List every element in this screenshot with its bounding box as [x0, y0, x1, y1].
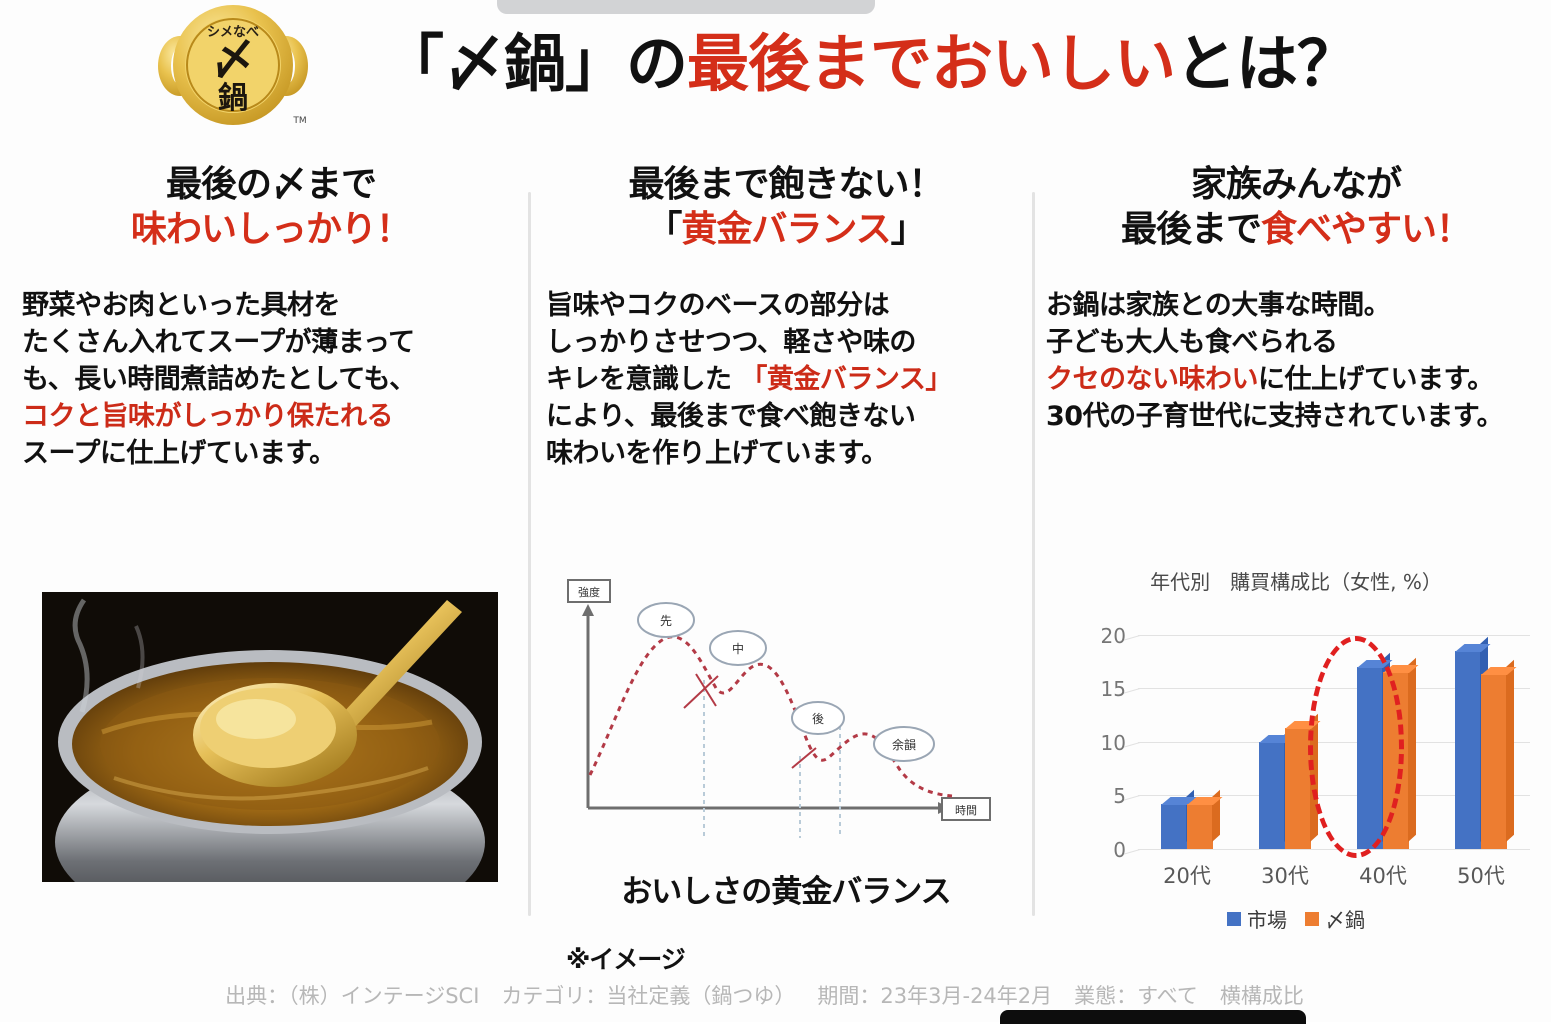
image-disclaimer-note: ※イメージ: [566, 940, 685, 976]
chart-y-tick-label: 0: [1082, 838, 1126, 862]
footer-source: 出典：（株）インテージSCI: [225, 984, 479, 1008]
curve-bubble-2: 中: [732, 641, 744, 656]
column3-heading-highlight: 食べやすい！: [1261, 209, 1471, 250]
trademark-mark: TM: [292, 116, 306, 126]
footer-category: カテゴリ：当社定義（鍋つゆ）: [501, 984, 795, 1008]
chart-title: 年代別 購買構成比（女性, %）: [1046, 566, 1546, 595]
chart-gridline: [1138, 849, 1530, 850]
chart-y-tick-label: 10: [1082, 731, 1126, 755]
chart-bar-group: [1455, 651, 1507, 849]
chart-bar: [1161, 804, 1187, 849]
column3-heading: 家族みんなが 最後まで食べやすい！: [1046, 162, 1546, 252]
column1-heading-line2: 味わいしっかり！: [22, 207, 520, 252]
column3-heading-line1: 家族みんなが: [1046, 162, 1546, 207]
column2-heading-bracket-close: 」: [891, 209, 926, 250]
page-title: 「〆鍋」の最後までおいしいとは？: [382, 18, 1382, 110]
column3-body: お鍋は家族との大事な時間。 子ども大人も食べられる クセのない味わいに仕上げてい…: [1046, 288, 1546, 436]
curve-bubble-3: 後: [812, 712, 824, 726]
legend-swatch-icon: [1227, 912, 1241, 926]
chart-legend-item: 〆鍋: [1305, 904, 1365, 933]
curve-caption: おいしさの黄金バランス: [546, 866, 1026, 911]
footer-metric: 横構成比: [1220, 984, 1304, 1008]
column1-body-line5: スープに仕上げています。: [22, 436, 520, 473]
column3-body-line4: 30代の子育世代に支持されています。: [1046, 399, 1546, 436]
chart-y-tick-label: 15: [1082, 677, 1126, 701]
column2-body-line3-pre: キレを意識した: [546, 364, 740, 395]
logo-mark: 〆: [211, 34, 255, 85]
title-part1: 「〆鍋」の: [382, 27, 687, 100]
chart-bar-group: [1161, 804, 1213, 849]
chart-x-tick-label: 50代: [1457, 860, 1505, 890]
column1-body-line4: コクと旨味がしっかり保たれる: [22, 399, 520, 436]
curve-bubble-1: 先: [660, 614, 672, 628]
chart-y-tick-label: 5: [1082, 784, 1126, 808]
column1-body-line1: 野菜やお肉といった具材を: [22, 288, 520, 325]
column-divider-1: [528, 192, 531, 916]
title-highlight: 最後までおいしい: [687, 27, 1175, 100]
legend-label: 〆鍋: [1325, 904, 1365, 933]
soup-pot-photo: [42, 592, 498, 882]
footer-period: 期間：23年3月-24年2月: [817, 984, 1052, 1008]
column2-heading-bracket-open: 「: [646, 209, 681, 250]
column2-heading: 最後まで飽きない！ 「黄金バランス」: [546, 162, 1026, 252]
chart-legend-item: 市場: [1227, 904, 1287, 933]
column1-body-line3: も、長い時間煮詰めたとしても、: [22, 362, 520, 399]
column3-heading-line2: 最後まで食べやすい！: [1046, 207, 1546, 252]
column3-body-line3: クセのない味わいに仕上げています。: [1046, 362, 1546, 399]
footer-source-line: 出典：（株）インテージSCIカテゴリ：当社定義（鍋つゆ）期間：23年3月-24年…: [0, 980, 1551, 1010]
age-purchase-bar-chart: 年代別 購買構成比（女性, %） 05101520 20代30代40代50代 市…: [1046, 566, 1546, 956]
chart-bar-group: [1357, 667, 1409, 849]
chart-bar: [1357, 667, 1383, 849]
chart-bar: [1259, 742, 1285, 849]
column2-body-line2: しっかりさせつつ、軽さや味の: [546, 325, 1026, 362]
chart-bar: [1455, 651, 1481, 849]
chart-x-tick-label: 40代: [1359, 860, 1407, 890]
column2-body: 旨味やコクのベースの部分は しっかりさせつつ、軽さや味の キレを意識した 「黄金…: [546, 288, 1026, 473]
chart-bar: [1187, 804, 1213, 849]
column-divider-2: [1032, 192, 1035, 916]
curve-x-axis-label: 時間: [955, 804, 977, 817]
chart-bars: [1138, 624, 1530, 849]
legend-label: 市場: [1247, 904, 1287, 933]
column2-body-line3-highlight: 「黄金バランス」: [740, 364, 951, 395]
taste-curve-diagram: 強度 時間 先 中 後 余韻: [556, 572, 1008, 850]
column2-body-line3: キレを意識した 「黄金バランス」: [546, 362, 1026, 399]
logo-bottom-text: 鍋: [218, 81, 248, 116]
column1-heading-line1: 最後の〆まで: [22, 162, 520, 207]
column2-body-line5: 味わいを作り上げています。: [546, 436, 1026, 473]
column1-body: 野菜やお肉といった具材を たくさん入れてスープが薄まって も、長い時間煮詰めたと…: [22, 288, 520, 473]
legend-swatch-icon: [1305, 912, 1319, 926]
column3-heading-pre: 最後まで: [1121, 209, 1261, 250]
chart-x-axis-labels: 20代30代40代50代: [1138, 860, 1530, 890]
column2-heading-line1: 最後まで飽きない！: [546, 162, 1026, 207]
column3-body-line2: 子ども大人も食べられる: [1046, 325, 1546, 362]
column2-body-line4: により、最後まで食べ飽きない: [546, 399, 1026, 436]
column2-heading-line2: 「黄金バランス」: [546, 207, 1026, 252]
footer-channel: 業態：すべて: [1074, 984, 1198, 1008]
curve-y-axis-label: 強度: [578, 585, 600, 599]
chart-bar: [1481, 674, 1507, 849]
top-gray-bar: [497, 0, 875, 14]
shimenabe-logo: シメなべ 〆 鍋 TM: [150, 2, 316, 134]
chart-plot-area: 05101520: [1138, 624, 1530, 849]
title-part2: とは？: [1175, 27, 1358, 100]
chart-bar: [1383, 672, 1409, 849]
column3-body-line1: お鍋は家族との大事な時間。: [1046, 288, 1546, 325]
curve-bubble-4: 余韻: [892, 737, 916, 752]
column1-body-line2: たくさん入れてスープが薄まって: [22, 325, 520, 362]
chart-bar: [1285, 728, 1311, 849]
column-balance: 最後まで飽きない！ 「黄金バランス」 旨味やコクのベースの部分は しっかりさせつ…: [546, 162, 1026, 473]
chart-legend: 市場〆鍋: [1046, 904, 1546, 933]
column3-body-line3-highlight: クセのない味わい: [1046, 364, 1258, 395]
column3-body-line3-post: に仕上げています。: [1258, 364, 1494, 395]
column2-heading-highlight: 黄金バランス: [681, 209, 890, 250]
column1-heading: 最後の〆まで 味わいしっかり！: [22, 162, 520, 252]
column-family: 家族みんなが 最後まで食べやすい！ お鍋は家族との大事な時間。 子ども大人も食べ…: [1046, 162, 1546, 436]
column-flavor: 最後の〆まで 味わいしっかり！ 野菜やお肉といった具材を たくさん入れてスープが…: [22, 162, 520, 473]
chart-x-tick-label: 20代: [1163, 860, 1211, 890]
chart-y-tick-label: 20: [1082, 624, 1126, 648]
chart-bar-group: [1259, 728, 1311, 849]
slide-canvas: シメなべ 〆 鍋 TM 「〆鍋」の最後までおいしいとは？ 最後の〆まで 味わいし…: [0, 0, 1551, 1022]
column2-body-line1: 旨味やコクのベースの部分は: [546, 288, 1026, 325]
chart-x-tick-label: 30代: [1261, 860, 1309, 890]
